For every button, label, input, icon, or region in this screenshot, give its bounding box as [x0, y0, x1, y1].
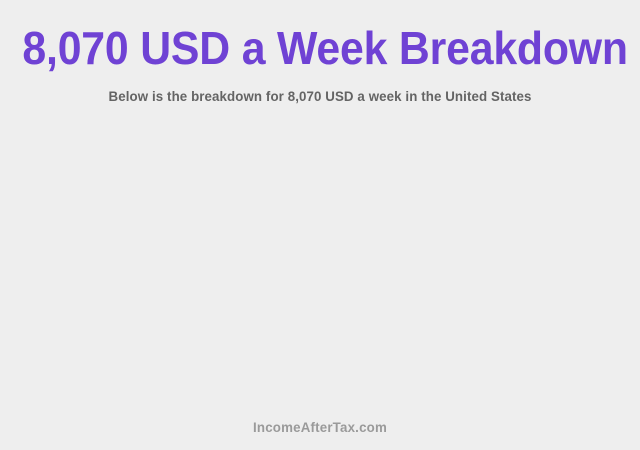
income-breakdown-page: 8,070 USD a Week Breakdown Below is the … — [0, 0, 640, 450]
page-subtitle: Below is the breakdown for 8,070 USD a w… — [16, 88, 624, 104]
page-footer: IncomeAfterTax.com — [0, 419, 640, 450]
site-brand-label: IncomeAfterTax.com — [16, 419, 624, 435]
page-header: 8,070 USD a Week Breakdown Below is the … — [0, 0, 640, 104]
page-title: 8,070 USD a Week Breakdown — [22, 22, 617, 74]
breakdown-content-area — [0, 104, 640, 419]
